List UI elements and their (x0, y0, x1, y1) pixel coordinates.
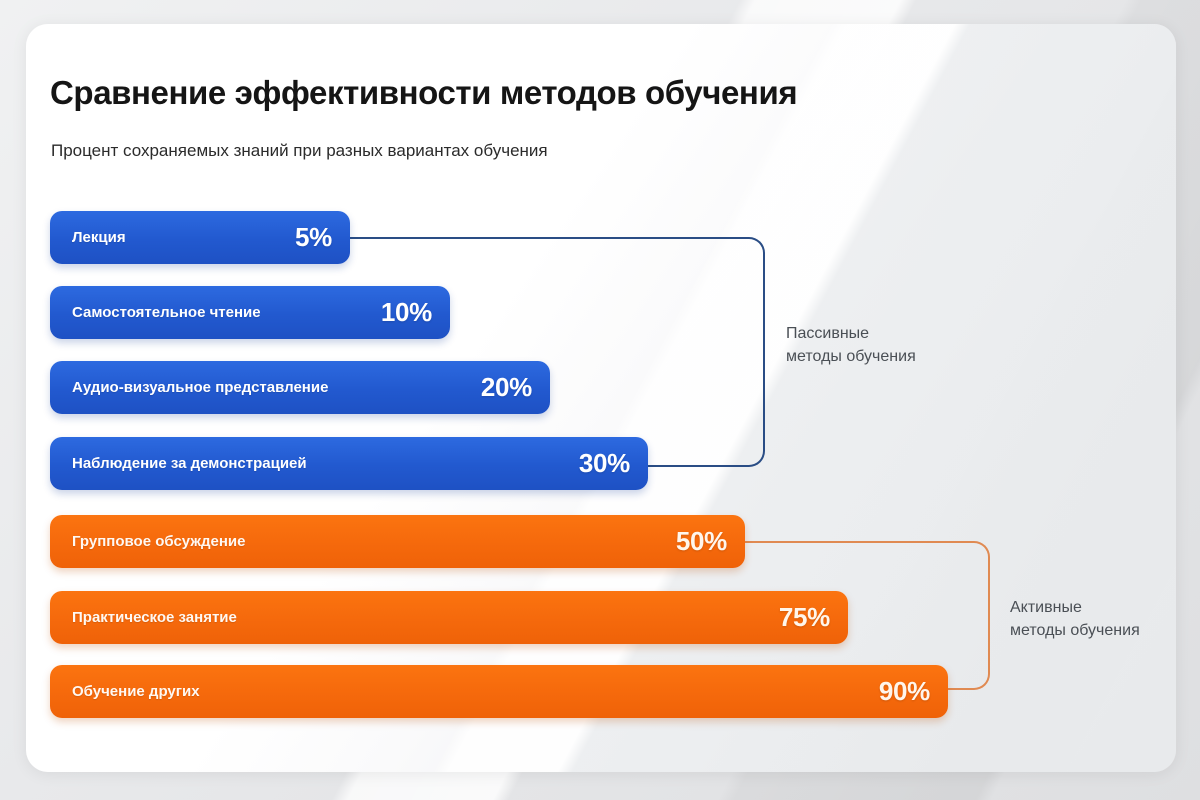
bar-value: 5% (295, 222, 332, 253)
passive-group-label: Пассивные методы обучения (786, 322, 916, 368)
passive-group-label-line2: методы обучения (786, 345, 916, 368)
bar-value: 50% (676, 526, 727, 557)
bar-row[interactable]: Практическое занятие 75% (50, 591, 848, 644)
infographic-canvas: Сравнение эффективности методов обучения… (0, 0, 1200, 800)
passive-group-label-line1: Пассивные (786, 325, 869, 342)
active-group-label-line1: Активные (1010, 599, 1082, 616)
bar-value: 90% (879, 676, 930, 707)
bar-label: Аудио-визуальное представление (72, 379, 328, 396)
active-group-label-line2: методы обучения (1010, 619, 1140, 642)
active-group-label: Активные методы обучения (1010, 596, 1140, 642)
bar-value: 75% (779, 602, 830, 633)
bar-value: 20% (481, 372, 532, 403)
bar-label: Наблюдение за демонстрацией (72, 455, 307, 472)
bar-row[interactable]: Обучение других 90% (50, 665, 948, 718)
bar-row[interactable]: Лекция 5% (50, 211, 350, 264)
bar-value: 10% (381, 297, 432, 328)
page-title: Сравнение эффективности методов обучения (50, 74, 797, 112)
bar-label: Самостоятельное чтение (72, 304, 261, 321)
passive-group-bracket (330, 237, 765, 467)
bar-label: Лекция (72, 229, 126, 246)
bar-label: Обучение других (72, 683, 200, 700)
bar-value: 30% (579, 448, 630, 479)
bar-label: Практическое занятие (72, 609, 237, 626)
bar-row[interactable]: Наблюдение за демонстрацией 30% (50, 437, 648, 490)
bar-row[interactable]: Самостоятельное чтение 10% (50, 286, 450, 339)
bar-row[interactable]: Аудио-визуальное представление 20% (50, 361, 550, 414)
bar-row[interactable]: Групповое обсуждение 50% (50, 515, 745, 568)
bar-label: Групповое обсуждение (72, 533, 245, 550)
page-subtitle: Процент сохраняемых знаний при разных ва… (51, 141, 548, 161)
